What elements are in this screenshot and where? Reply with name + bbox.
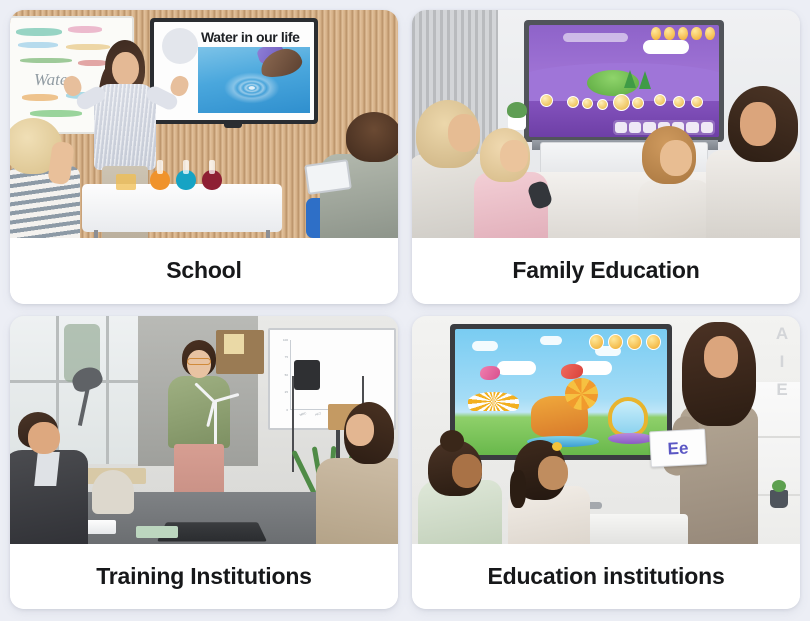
interactive-display: Water in our life bbox=[150, 18, 318, 124]
card-title-training-institutions: Training Institutions bbox=[96, 565, 312, 588]
wall-letter: A bbox=[776, 324, 788, 344]
office-chair bbox=[92, 470, 134, 514]
girl-figure bbox=[474, 128, 550, 238]
card-title-family-education: Family Education bbox=[512, 259, 699, 282]
teacup-ride bbox=[608, 389, 655, 444]
slide-water-image bbox=[198, 47, 310, 113]
flask-red bbox=[202, 160, 222, 190]
girl-with-bun-figure bbox=[418, 432, 504, 544]
demo-table bbox=[82, 184, 282, 232]
wall-letter: I bbox=[780, 352, 785, 372]
chart-ytick: 100 bbox=[283, 338, 288, 342]
beaker bbox=[116, 168, 136, 190]
small-plant-pot bbox=[770, 490, 788, 508]
game-speech-bubble bbox=[643, 40, 689, 55]
education-institutions-caption: Education institutions bbox=[412, 544, 800, 610]
scenario-card-family-education[interactable]: Family Education bbox=[412, 10, 800, 304]
flask-teal bbox=[176, 160, 196, 190]
coffee-machine bbox=[294, 360, 320, 390]
girl-with-ponytail-figure bbox=[508, 436, 592, 544]
wall-letter: E bbox=[776, 380, 787, 400]
training-institutions-photo: 100 75 50 25 0 MRC bbox=[10, 316, 398, 544]
interactive-display bbox=[524, 20, 724, 142]
teacher-figure: Ee bbox=[674, 322, 766, 544]
printed-chart bbox=[136, 526, 178, 538]
wind-turbine-model bbox=[214, 402, 217, 444]
card-title-school: School bbox=[166, 259, 241, 282]
glasses-icon bbox=[187, 358, 211, 365]
family-education-photo bbox=[412, 10, 800, 238]
game-progress-bar bbox=[563, 33, 628, 42]
father-figure bbox=[702, 86, 800, 238]
seated-man-figure bbox=[10, 412, 98, 544]
seated-woman-figure bbox=[308, 402, 398, 544]
scenario-card-education-institutions[interactable]: A I E bbox=[412, 316, 800, 610]
flashcard-letter: Ee bbox=[667, 438, 689, 456]
plant-leaf bbox=[507, 102, 527, 118]
small-plant-leaf bbox=[772, 480, 786, 492]
park-top-icons bbox=[589, 334, 661, 350]
display-screen-game bbox=[529, 25, 719, 137]
slide-decorative-circle bbox=[162, 28, 198, 64]
chart-ytick: 0 bbox=[286, 408, 288, 412]
scenario-card-school[interactable]: Water Water in our life bbox=[10, 10, 398, 304]
game-top-icons bbox=[651, 28, 716, 39]
tablet bbox=[304, 159, 352, 195]
school-photo: Water Water in our life bbox=[10, 10, 398, 238]
slide-title: Water in our life bbox=[201, 29, 299, 45]
flashcard: Ee bbox=[649, 428, 707, 467]
education-institutions-photo: A I E bbox=[412, 316, 800, 544]
training-institutions-caption: Training Institutions bbox=[10, 544, 398, 610]
family-education-caption: Family Education bbox=[412, 238, 800, 304]
school-caption: School bbox=[10, 238, 398, 304]
flying-character bbox=[480, 366, 500, 380]
card-title-education-institutions: Education institutions bbox=[487, 565, 724, 588]
scenario-card-grid: Water Water in our life bbox=[0, 0, 810, 621]
scenario-card-training-institutions[interactable]: 100 75 50 25 0 MRC bbox=[10, 316, 398, 610]
wall-letters: A I E bbox=[768, 324, 796, 420]
chart-ytick: 50 bbox=[285, 373, 288, 377]
chart-ytick: 25 bbox=[285, 390, 288, 394]
student-raising-hand bbox=[10, 118, 100, 238]
speech-bubble bbox=[497, 361, 535, 375]
chart-ytick: 75 bbox=[285, 355, 288, 359]
student-with-tablet bbox=[306, 112, 398, 238]
display-stand bbox=[224, 124, 242, 128]
flask-orange bbox=[150, 160, 170, 190]
